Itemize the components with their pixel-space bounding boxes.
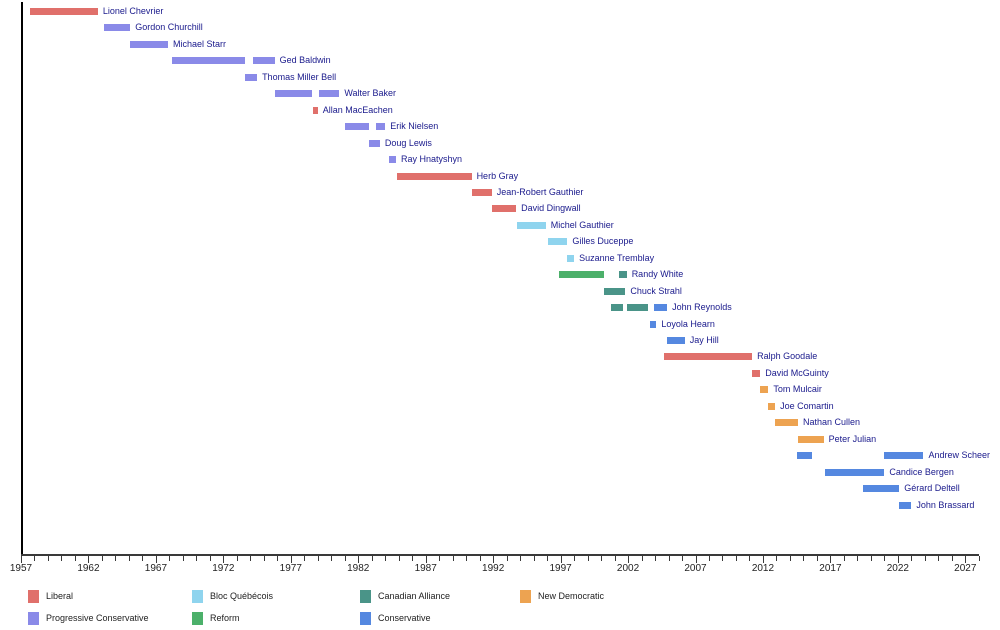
x-axis-minor-tick xyxy=(507,556,508,561)
x-axis-minor-tick xyxy=(115,556,116,561)
legend-swatch xyxy=(192,590,203,603)
gantt-row-label: David McGuinty xyxy=(765,366,829,381)
x-axis-major-tick xyxy=(965,556,966,563)
gantt-row[interactable]: Andrew Scheer xyxy=(0,448,1000,464)
gantt-bar-segment[interactable] xyxy=(627,304,649,311)
gantt-row[interactable]: Loyola Hearn xyxy=(0,317,1000,333)
gantt-row[interactable]: Randy White xyxy=(0,267,1000,283)
x-axis-minor-tick xyxy=(385,556,386,561)
gantt-bar-segment[interactable] xyxy=(104,24,130,31)
gantt-bar-segment[interactable] xyxy=(130,41,168,48)
gantt-bar-segment[interactable] xyxy=(245,74,257,81)
gantt-row[interactable]: Tom Mulcair xyxy=(0,382,1000,398)
gantt-row-label: David Dingwall xyxy=(521,201,581,216)
x-axis-tick-label: 2002 xyxy=(617,563,639,574)
gantt-row-label: Walter Baker xyxy=(344,86,396,101)
gantt-bar-segment[interactable] xyxy=(253,57,275,64)
x-axis-major-tick xyxy=(88,556,89,563)
legend-swatch xyxy=(520,590,531,603)
gantt-row-label: John Reynolds xyxy=(672,300,732,315)
x-axis-tick-label: 1972 xyxy=(212,563,234,574)
gantt-row[interactable]: Peter Julian xyxy=(0,432,1000,448)
gantt-row-label: Tom Mulcair xyxy=(773,382,822,397)
x-axis-minor-tick xyxy=(520,556,521,561)
gantt-bar-segment[interactable] xyxy=(611,304,623,311)
legend-item[interactable]: New Democratic xyxy=(520,588,604,604)
gantt-row-label: Ray Hnatyshyn xyxy=(401,152,462,167)
x-axis-minor-tick xyxy=(979,556,980,561)
x-axis-tick-label: 2012 xyxy=(752,563,774,574)
legend-label: Progressive Conservative xyxy=(46,612,149,625)
x-axis-tick-label: 1957 xyxy=(10,563,32,574)
gantt-bar-segment[interactable] xyxy=(797,452,812,459)
gantt-row-label: Michael Starr xyxy=(173,37,226,52)
x-axis-minor-tick xyxy=(938,556,939,561)
gantt-bar-segment[interactable] xyxy=(760,386,768,393)
gantt-row[interactable]: Gérard Deltell xyxy=(0,481,1000,497)
x-axis-minor-tick xyxy=(534,556,535,561)
x-axis-major-tick xyxy=(426,556,427,563)
x-axis-minor-tick xyxy=(129,556,130,561)
x-axis-minor-tick xyxy=(75,556,76,561)
legend-label: Conservative xyxy=(378,612,431,625)
gantt-row[interactable]: Jay Hill xyxy=(0,333,1000,349)
x-axis-minor-tick xyxy=(250,556,251,561)
x-axis-minor-tick xyxy=(48,556,49,561)
x-axis-minor-tick xyxy=(574,556,575,561)
gantt-row[interactable]: John Brassard xyxy=(0,498,1000,514)
x-axis-minor-tick xyxy=(547,556,548,561)
gantt-row[interactable]: Jean-Robert Gauthier xyxy=(0,185,1000,201)
x-axis-tick-label: 2022 xyxy=(887,563,909,574)
gantt-bar-segment[interactable] xyxy=(319,90,339,97)
gantt-row[interactable]: John Reynolds xyxy=(0,300,1000,316)
legend-label: Bloc Québécois xyxy=(210,590,273,603)
x-axis-minor-tick xyxy=(196,556,197,561)
gantt-row[interactable]: Michael Starr xyxy=(0,37,1000,53)
legend-item[interactable]: Canadian Alliance xyxy=(360,588,450,604)
gantt-chart: Lionel ChevrierGordon ChurchillMichael S… xyxy=(0,0,1000,630)
gantt-bar-segment[interactable] xyxy=(548,238,567,245)
gantt-row-label: Candice Bergen xyxy=(889,465,954,480)
gantt-row-label: Jean-Robert Gauthier xyxy=(497,185,584,200)
x-axis-minor-tick xyxy=(884,556,885,561)
x-axis-minor-tick xyxy=(169,556,170,561)
x-axis-tick-label: 1977 xyxy=(280,563,302,574)
legend: LiberalProgressive ConservativeBloc Québ… xyxy=(0,588,1000,630)
legend-item[interactable]: Reform xyxy=(192,610,240,626)
x-axis-minor-tick xyxy=(318,556,319,561)
gantt-row[interactable]: Ray Hnatyshyn xyxy=(0,152,1000,168)
gantt-row-label: Chuck Strahl xyxy=(630,284,682,299)
x-axis: 1957196219671972197719821987199219972002… xyxy=(0,554,1000,580)
x-axis-minor-tick xyxy=(682,556,683,561)
gantt-row-label: Suzanne Tremblay xyxy=(579,251,654,266)
x-axis-tick-label: 2017 xyxy=(819,563,841,574)
x-axis-major-tick xyxy=(21,556,22,563)
x-axis-minor-tick xyxy=(952,556,953,561)
gantt-bar-segment[interactable] xyxy=(768,403,775,410)
x-axis-tick-label: 1982 xyxy=(347,563,369,574)
x-axis-minor-tick xyxy=(709,556,710,561)
x-axis-minor-tick xyxy=(34,556,35,561)
legend-swatch xyxy=(28,612,39,625)
legend-item[interactable]: Progressive Conservative xyxy=(28,610,149,626)
x-axis-major-tick xyxy=(628,556,629,563)
x-axis-minor-tick xyxy=(817,556,818,561)
gantt-row[interactable]: David Dingwall xyxy=(0,201,1000,217)
gantt-bar-segment[interactable] xyxy=(397,173,471,180)
gantt-bar-segment[interactable] xyxy=(517,222,545,229)
x-axis-major-tick xyxy=(561,556,562,563)
gantt-row[interactable]: Ralph Goodale xyxy=(0,349,1000,365)
x-axis-minor-tick xyxy=(911,556,912,561)
gantt-bar-segment[interactable] xyxy=(559,271,604,278)
x-axis-minor-tick xyxy=(669,556,670,561)
legend-swatch xyxy=(360,590,371,603)
gantt-bar-segment[interactable] xyxy=(345,123,369,130)
x-axis-major-tick xyxy=(763,556,764,563)
gantt-row[interactable]: Thomas Miller Bell xyxy=(0,70,1000,86)
x-axis-minor-tick xyxy=(453,556,454,561)
gantt-row[interactable]: Chuck Strahl xyxy=(0,284,1000,300)
legend-swatch xyxy=(360,612,371,625)
x-axis-major-tick xyxy=(358,556,359,563)
gantt-row[interactable]: Michel Gauthier xyxy=(0,218,1000,234)
gantt-row[interactable]: David McGuinty xyxy=(0,366,1000,382)
gantt-row-label: Gordon Churchill xyxy=(135,20,203,35)
legend-label: Reform xyxy=(210,612,240,625)
legend-swatch xyxy=(28,590,39,603)
x-axis-minor-tick xyxy=(615,556,616,561)
gantt-row-label: Randy White xyxy=(632,267,684,282)
gantt-bar-segment[interactable] xyxy=(667,337,685,344)
x-axis-minor-tick xyxy=(61,556,62,561)
x-axis-tick-label: 1997 xyxy=(549,563,571,574)
gantt-bar-segment[interactable] xyxy=(825,469,884,476)
x-axis-major-tick xyxy=(898,556,899,563)
gantt-bar-segment[interactable] xyxy=(275,90,313,97)
gantt-bar-segment[interactable] xyxy=(899,502,911,509)
gantt-row-label: Ged Baldwin xyxy=(280,53,331,68)
gantt-row-label: Herb Gray xyxy=(477,169,519,184)
gantt-row[interactable]: Candice Bergen xyxy=(0,465,1000,481)
x-axis-minor-tick xyxy=(372,556,373,561)
legend-label: Liberal xyxy=(46,590,73,603)
x-axis-minor-tick xyxy=(871,556,872,561)
gantt-row-label: Loyola Hearn xyxy=(661,317,715,332)
gantt-row-label: Peter Julian xyxy=(829,432,877,447)
gantt-bar-segment[interactable] xyxy=(369,140,380,147)
x-axis-major-tick xyxy=(493,556,494,563)
gantt-row[interactable]: Lionel Chevrier xyxy=(0,4,1000,20)
legend-label: Canadian Alliance xyxy=(378,590,450,603)
x-axis-tick-label: 2027 xyxy=(954,563,976,574)
gantt-bar-segment[interactable] xyxy=(884,452,923,459)
x-axis-minor-tick xyxy=(264,556,265,561)
gantt-bar-segment[interactable] xyxy=(172,57,245,64)
x-axis-tick-label: 1987 xyxy=(415,563,437,574)
x-axis-minor-tick xyxy=(925,556,926,561)
gantt-bar-segment[interactable] xyxy=(376,123,385,130)
gantt-bar-segment[interactable] xyxy=(472,189,492,196)
gantt-row[interactable]: Walter Baker xyxy=(0,86,1000,102)
x-axis-minor-tick xyxy=(345,556,346,561)
gantt-row-label: Andrew Scheer xyxy=(928,448,990,463)
gantt-row-label: Gilles Duceppe xyxy=(572,234,633,249)
gantt-bar-segment[interactable] xyxy=(492,205,516,212)
gantt-row[interactable]: Joe Comartin xyxy=(0,399,1000,415)
legend-swatch xyxy=(192,612,203,625)
x-axis-minor-tick xyxy=(399,556,400,561)
gantt-row-label: Gérard Deltell xyxy=(904,481,960,496)
gantt-row-label: Erik Nielsen xyxy=(390,119,438,134)
gantt-bar-segment[interactable] xyxy=(798,436,824,443)
x-axis-minor-tick xyxy=(844,556,845,561)
gantt-bar-segment[interactable] xyxy=(619,271,627,278)
x-axis-minor-tick xyxy=(142,556,143,561)
gantt-row[interactable]: Allan MacEachen xyxy=(0,103,1000,119)
legend-item[interactable]: Liberal xyxy=(28,588,73,604)
x-axis-minor-tick xyxy=(655,556,656,561)
gantt-bar-segment[interactable] xyxy=(752,370,760,377)
gantt-row-label: Jay Hill xyxy=(690,333,719,348)
gantt-bar-segment[interactable] xyxy=(863,485,899,492)
gantt-row-label: Allan MacEachen xyxy=(323,103,393,118)
gantt-row-label: Lionel Chevrier xyxy=(103,4,164,19)
x-axis-tick-label: 1962 xyxy=(77,563,99,574)
x-axis-minor-tick xyxy=(439,556,440,561)
gantt-row-label: Joe Comartin xyxy=(780,399,834,414)
x-axis-tick-label: 1992 xyxy=(482,563,504,574)
gantt-bar-segment[interactable] xyxy=(30,8,98,15)
x-axis-minor-tick xyxy=(237,556,238,561)
gantt-row[interactable]: Herb Gray xyxy=(0,169,1000,185)
x-axis-minor-tick xyxy=(857,556,858,561)
gantt-bar-segment[interactable] xyxy=(664,353,752,360)
x-axis-minor-tick xyxy=(210,556,211,561)
legend-label: New Democratic xyxy=(538,590,604,603)
gantt-row-label: Nathan Cullen xyxy=(803,415,860,430)
x-axis-major-tick xyxy=(156,556,157,563)
gantt-row-label: Ralph Goodale xyxy=(757,349,817,364)
x-axis-minor-tick xyxy=(480,556,481,561)
x-axis-minor-tick xyxy=(722,556,723,561)
x-axis-major-tick xyxy=(830,556,831,563)
x-axis-minor-tick xyxy=(790,556,791,561)
gantt-row[interactable]: Suzanne Tremblay xyxy=(0,251,1000,267)
x-axis-major-tick xyxy=(291,556,292,563)
gantt-bar-segment[interactable] xyxy=(604,288,626,295)
gantt-bar-segment[interactable] xyxy=(775,419,798,426)
gantt-row-label: Thomas Miller Bell xyxy=(262,70,336,85)
x-axis-minor-tick xyxy=(803,556,804,561)
gantt-bar-segment[interactable] xyxy=(313,107,318,114)
x-axis-minor-tick xyxy=(183,556,184,561)
gantt-row-label: Michel Gauthier xyxy=(551,218,614,233)
gantt-row-label: John Brassard xyxy=(916,498,974,513)
gantt-bar-segment[interactable] xyxy=(654,304,667,311)
plot-area: Lionel ChevrierGordon ChurchillMichael S… xyxy=(0,0,1000,556)
x-axis-minor-tick xyxy=(277,556,278,561)
x-axis-line xyxy=(21,554,979,556)
gantt-bar-segment[interactable] xyxy=(389,156,396,163)
legend-item[interactable]: Conservative xyxy=(360,610,431,626)
x-axis-major-tick xyxy=(223,556,224,563)
gantt-row[interactable]: Gordon Churchill xyxy=(0,20,1000,36)
gantt-row[interactable]: Erik Nielsen xyxy=(0,119,1000,135)
x-axis-minor-tick xyxy=(588,556,589,561)
gantt-row[interactable]: Gilles Duceppe xyxy=(0,234,1000,250)
legend-item[interactable]: Bloc Québécois xyxy=(192,588,273,604)
x-axis-minor-tick xyxy=(601,556,602,561)
x-axis-minor-tick xyxy=(776,556,777,561)
x-axis-minor-tick xyxy=(102,556,103,561)
gantt-row-label: Doug Lewis xyxy=(385,136,432,151)
gantt-row[interactable]: Doug Lewis xyxy=(0,136,1000,152)
x-axis-minor-tick xyxy=(304,556,305,561)
x-axis-minor-tick xyxy=(466,556,467,561)
x-axis-minor-tick xyxy=(736,556,737,561)
gantt-bar-segment[interactable] xyxy=(650,321,657,328)
gantt-row[interactable]: Nathan Cullen xyxy=(0,415,1000,431)
x-axis-minor-tick xyxy=(331,556,332,561)
x-axis-minor-tick xyxy=(749,556,750,561)
gantt-bar-segment[interactable] xyxy=(567,255,574,262)
x-axis-tick-label: 1967 xyxy=(145,563,167,574)
gantt-row[interactable]: Ged Baldwin xyxy=(0,53,1000,69)
x-axis-minor-tick xyxy=(642,556,643,561)
x-axis-minor-tick xyxy=(412,556,413,561)
x-axis-tick-label: 2007 xyxy=(684,563,706,574)
x-axis-major-tick xyxy=(696,556,697,563)
